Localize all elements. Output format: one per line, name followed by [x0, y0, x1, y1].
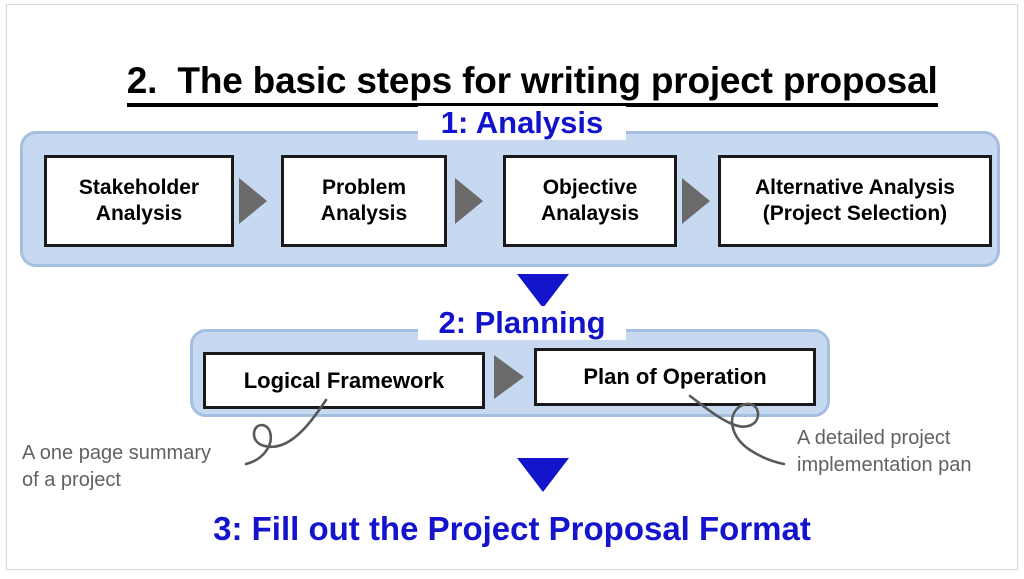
step-box-label: Problem Analysis [321, 175, 407, 227]
analysis-section-heading: 1: Analysis [418, 106, 626, 140]
step-box-objective-analysis[interactable]: Objective Analaysis [503, 155, 677, 247]
annotation-plan-of-operation: A detailed project implementation pan [797, 425, 1024, 479]
final-step-label: 3: Fill out the Project Proposal Format [0, 510, 1024, 548]
page-title-text: 2. The basic steps for writing project p… [127, 60, 938, 107]
triangle-right-icon [239, 178, 267, 224]
triangle-right-icon [455, 178, 483, 224]
step-box-label: Plan of Operation [583, 364, 766, 390]
triangle-right-icon [494, 355, 524, 399]
step-box-label: Alternative Analysis (Project Selection) [755, 175, 955, 227]
step-box-plan-of-operation[interactable]: Plan of Operation [534, 348, 816, 406]
slide-canvas: 2. The basic steps for writing project p… [0, 0, 1024, 579]
step-box-problem-analysis[interactable]: Problem Analysis [281, 155, 447, 247]
step-box-label: Logical Framework [244, 368, 445, 394]
step-box-logical-framework[interactable]: Logical Framework [203, 352, 485, 409]
annotation-logical-framework: A one page summary of a project [22, 440, 302, 494]
planning-section-heading: 2: Planning [418, 306, 626, 340]
triangle-down-icon [517, 274, 569, 308]
triangle-right-icon [682, 178, 710, 224]
step-box-label: Stakeholder Analysis [79, 175, 199, 227]
step-box-stakeholder-analysis[interactable]: Stakeholder Analysis [44, 155, 234, 247]
step-box-label: Objective Analaysis [541, 175, 639, 227]
triangle-down-icon [517, 458, 569, 492]
step-box-alternative-analysis[interactable]: Alternative Analysis (Project Selection) [718, 155, 992, 247]
